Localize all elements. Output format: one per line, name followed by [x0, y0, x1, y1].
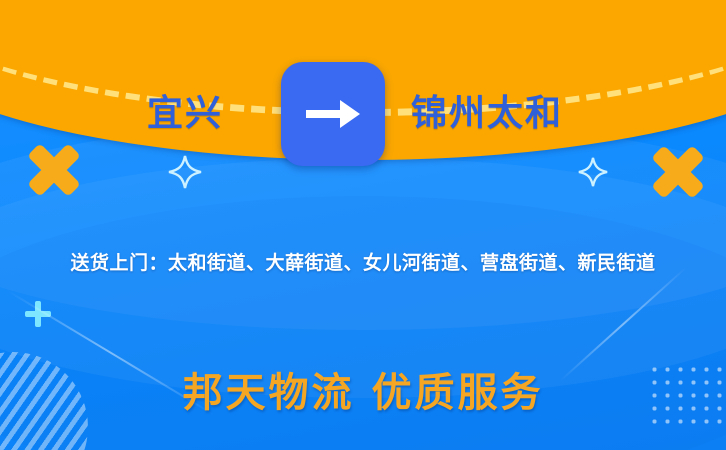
route-arrow-button[interactable] — [281, 62, 385, 166]
company-slogan: 邦天物流 优质服务 — [0, 360, 726, 418]
logistics-banner: 宜兴 锦州太和 送货上门：太和街道、大薛街道、女儿河街道、营盘街道、新民街道 邦… — [0, 0, 726, 450]
arrow-right-icon — [304, 94, 362, 134]
destination-city-label: 锦州太和 — [411, 96, 611, 132]
origin-city-label: 宜兴 — [115, 96, 255, 132]
delivery-areas-text: 送货上门：太和街道、大薛街道、女儿河街道、营盘街道、新民街道 — [0, 248, 726, 275]
route-row: 宜兴 锦州太和 — [0, 78, 726, 150]
